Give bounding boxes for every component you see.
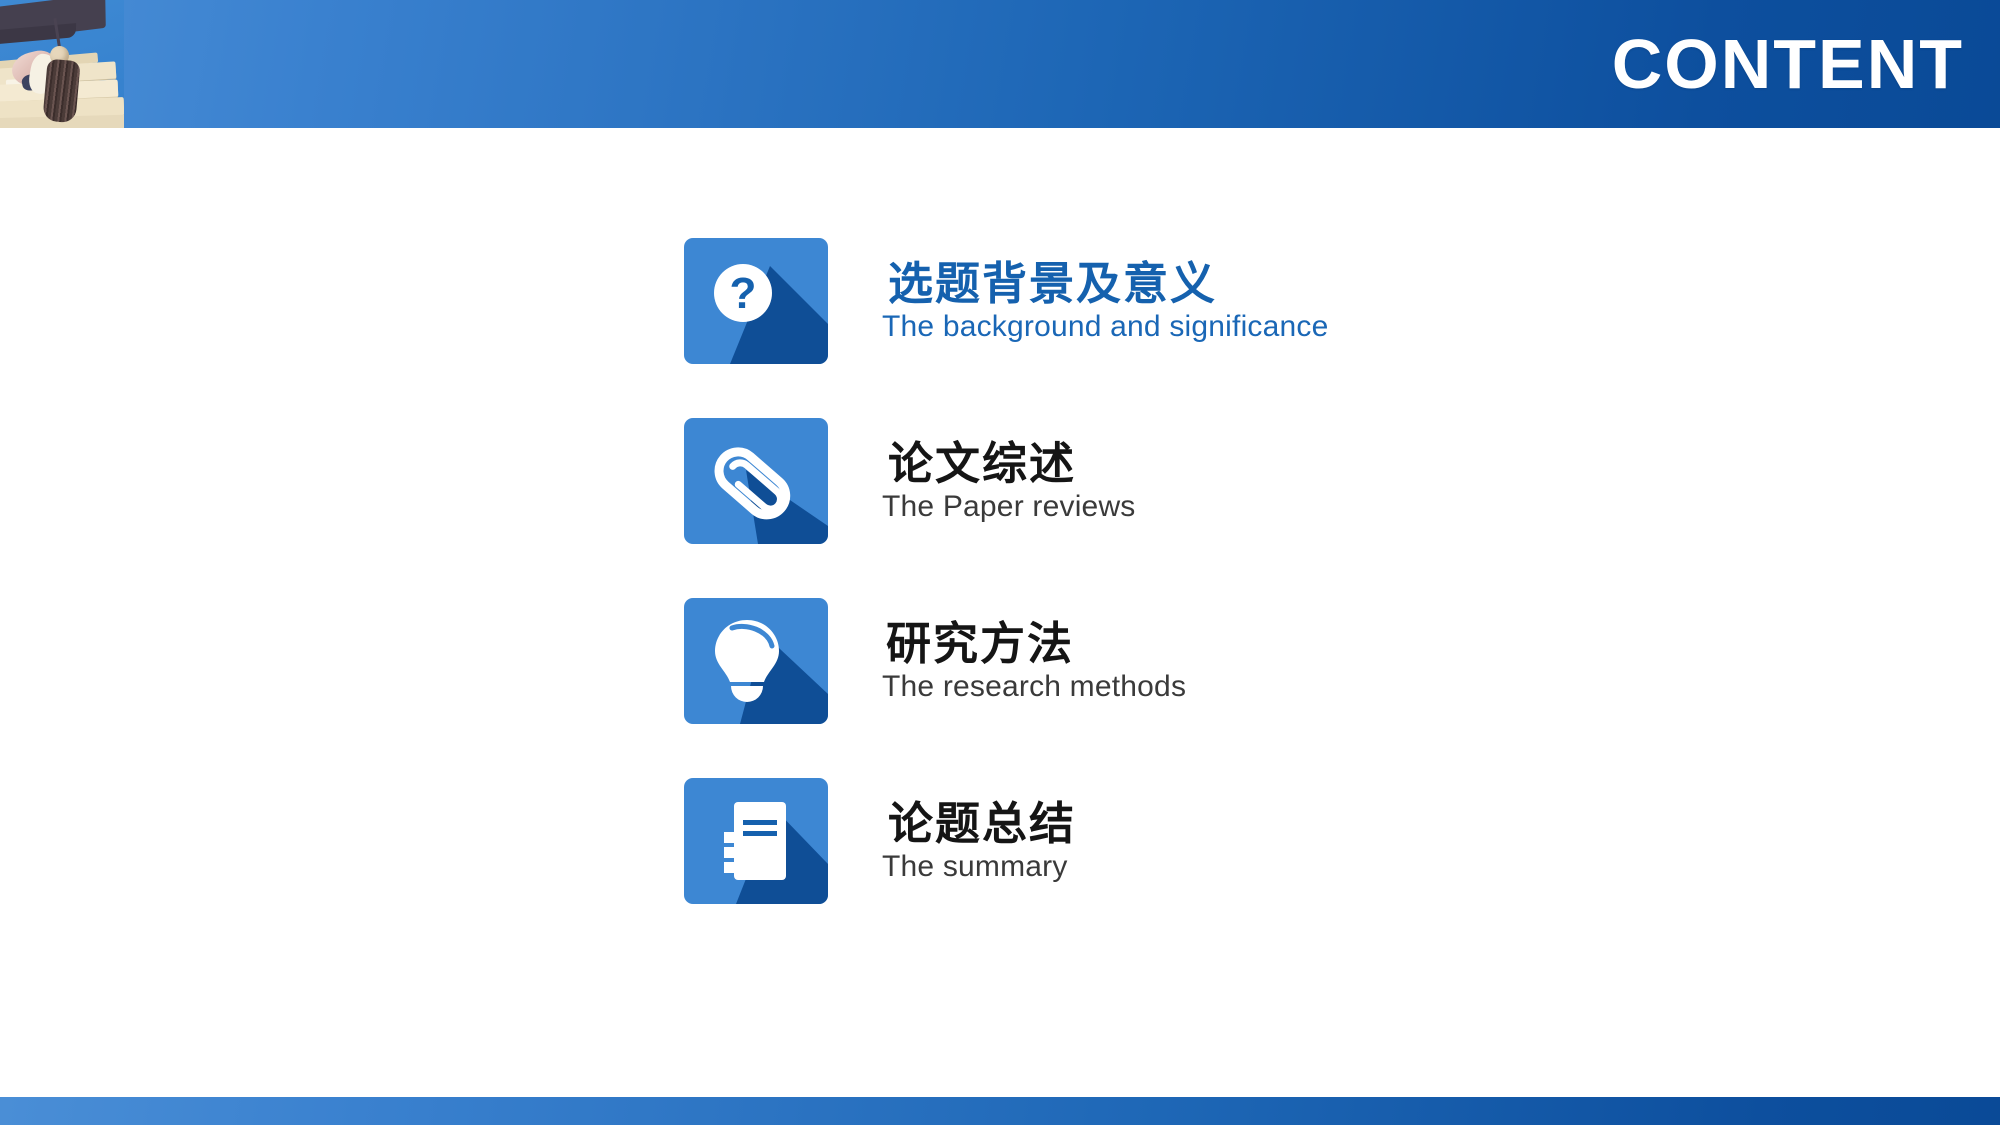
page-title: CONTENT bbox=[1612, 29, 1964, 99]
slide-root: CONTENT ? 选题背景及意义 The background and sig… bbox=[0, 0, 2000, 1125]
svg-text:?: ? bbox=[730, 269, 757, 318]
content-item-title: 论文综述 bbox=[882, 440, 1136, 487]
content-list: ? 选题背景及意义 The background and significanc… bbox=[684, 238, 1884, 904]
content-item-title: 研究方法 bbox=[882, 620, 1186, 667]
header-bar: CONTENT bbox=[0, 0, 2000, 128]
content-item-paper-reviews[interactable]: 论文综述 The Paper reviews bbox=[684, 418, 1884, 544]
content-item-text: 论文综述 The Paper reviews bbox=[882, 440, 1136, 523]
paperclip-icon[interactable] bbox=[684, 418, 828, 544]
graduation-cap-books-photo bbox=[0, 0, 124, 128]
content-item-research-methods[interactable]: 研究方法 The research methods bbox=[684, 598, 1884, 724]
footer-bar bbox=[0, 1097, 2000, 1125]
lightbulb-icon[interactable] bbox=[684, 598, 828, 724]
content-item-subtitle: The Paper reviews bbox=[882, 491, 1136, 523]
tassel-icon bbox=[42, 59, 80, 124]
content-item-summary[interactable]: 论题总结 The summary bbox=[684, 778, 1884, 904]
question-mark-icon[interactable]: ? bbox=[684, 238, 828, 364]
content-item-subtitle: The background and significance bbox=[882, 311, 1329, 343]
notebook-icon[interactable] bbox=[684, 778, 828, 904]
content-item-background[interactable]: ? 选题背景及意义 The background and significanc… bbox=[684, 238, 1884, 364]
content-item-text: 研究方法 The research methods bbox=[882, 620, 1186, 703]
content-item-title: 论题总结 bbox=[882, 800, 1076, 847]
content-item-subtitle: The summary bbox=[882, 851, 1076, 883]
content-item-subtitle: The research methods bbox=[882, 671, 1186, 703]
content-item-text: 论题总结 The summary bbox=[882, 800, 1076, 883]
content-item-title: 选题背景及意义 bbox=[882, 260, 1329, 307]
content-item-text: 选题背景及意义 The background and significance bbox=[882, 260, 1329, 343]
